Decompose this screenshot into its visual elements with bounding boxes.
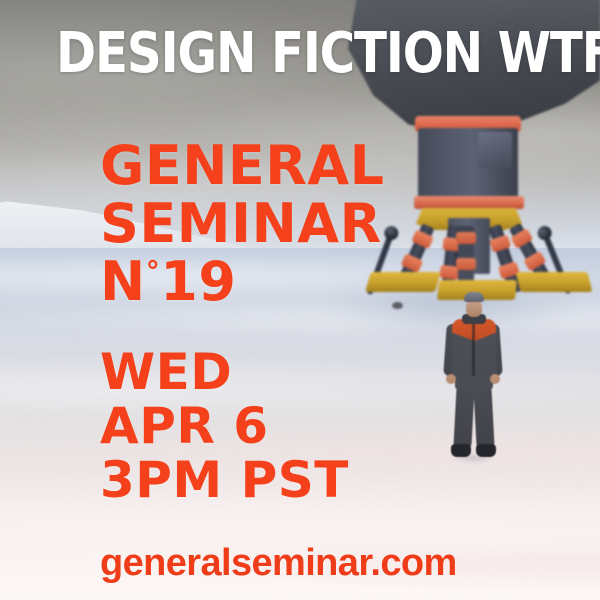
website-url[interactable]: generalseminar.com [100, 544, 457, 582]
seminar-number-value: 19 [160, 250, 236, 313]
event-poster: DESIGN FICTION WTF GENERAL SEMINAR N°19 … [0, 0, 600, 600]
seminar-title-line-2: SEMINAR [100, 198, 385, 250]
poster-headline: DESIGN FICTION WTF [56, 26, 600, 82]
text-overlay: DESIGN FICTION WTF GENERAL SEMINAR N°19 … [0, 0, 600, 600]
seminar-number-prefix: N [100, 250, 146, 313]
seminar-title-block: GENERAL SEMINAR N°19 [100, 140, 385, 307]
schedule-time: 3PM PST [100, 456, 349, 504]
degree-symbol-icon: ° [146, 255, 161, 288]
schedule-date: APR 6 [100, 402, 349, 450]
schedule-day: WED [100, 348, 349, 396]
schedule-block: WED APR 6 3PM PST [100, 348, 349, 504]
seminar-number-line: N°19 [100, 256, 385, 308]
seminar-title-line-1: GENERAL [100, 140, 385, 192]
